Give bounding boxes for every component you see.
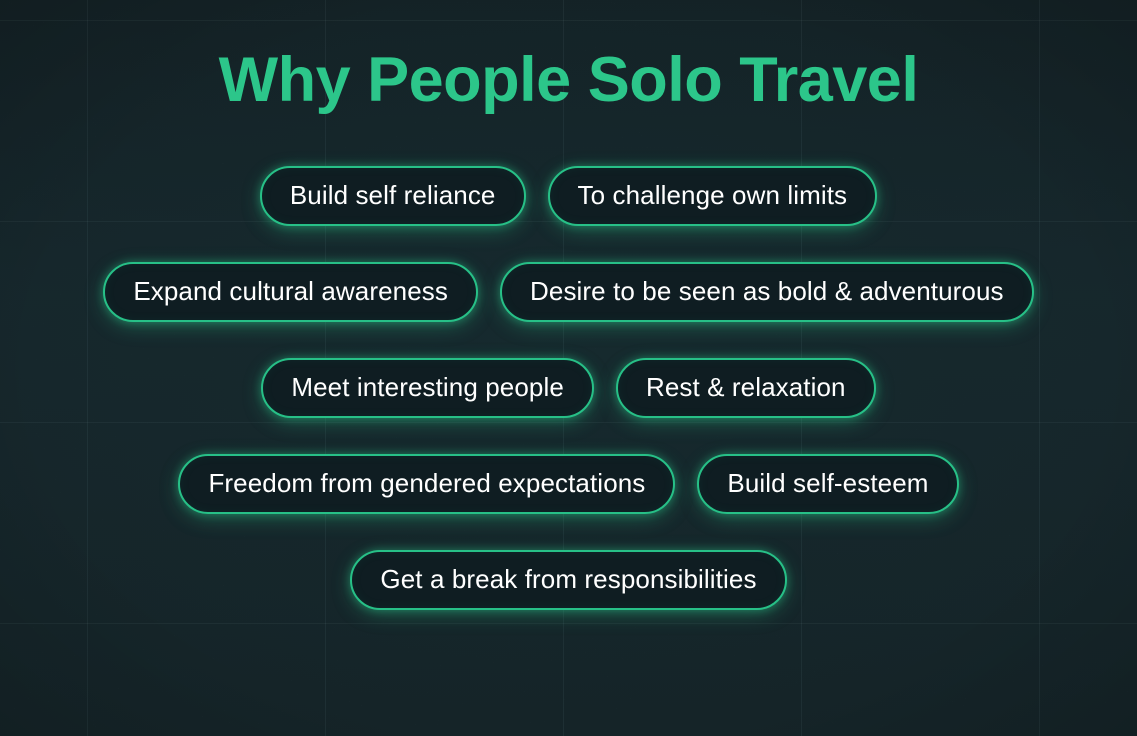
reason-pill[interactable]: Freedom from gendered expectations (178, 454, 675, 514)
reason-pill-label: To challenge own limits (578, 182, 848, 210)
pill-row: Freedom from gendered expectations Build… (178, 454, 958, 514)
reason-pill[interactable]: Build self reliance (260, 166, 526, 226)
reason-pill-label: Expand cultural awareness (133, 278, 448, 306)
reason-pill-label: Freedom from gendered expectations (208, 470, 645, 498)
reason-pill[interactable]: Build self-esteem (697, 454, 958, 514)
reason-pill-label: Desire to be seen as bold & adventurous (530, 278, 1004, 306)
reason-pill-group: Build self reliance To challenge own lim… (103, 166, 1033, 610)
pill-row: Get a break from responsibilities (350, 550, 786, 610)
reason-pill-label: Build self reliance (290, 182, 496, 210)
reason-pill-label: Build self-esteem (727, 470, 928, 498)
pill-row: Build self reliance To challenge own lim… (260, 166, 877, 226)
reason-pill[interactable]: Rest & relaxation (616, 358, 876, 418)
pill-row: Expand cultural awareness Desire to be s… (103, 262, 1033, 322)
reason-pill-label: Meet interesting people (291, 374, 564, 402)
reason-pill[interactable]: Expand cultural awareness (103, 262, 478, 322)
reason-pill[interactable]: To challenge own limits (548, 166, 878, 226)
reason-pill[interactable]: Desire to be seen as bold & adventurous (500, 262, 1034, 322)
pill-row: Meet interesting people Rest & relaxatio… (261, 358, 875, 418)
reason-pill[interactable]: Get a break from responsibilities (350, 550, 786, 610)
infographic-root: Why People Solo Travel Build self relian… (0, 0, 1137, 736)
reason-pill-label: Rest & relaxation (646, 374, 846, 402)
page-title: Why People Solo Travel (219, 44, 919, 116)
reason-pill-label: Get a break from responsibilities (380, 566, 756, 594)
reason-pill[interactable]: Meet interesting people (261, 358, 594, 418)
